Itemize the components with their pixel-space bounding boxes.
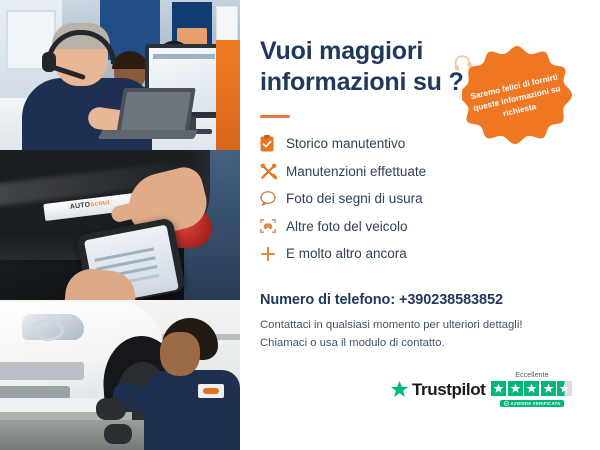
trustpilot-rating: Eccellente AZIENDA VERIFICATA <box>491 372 572 407</box>
promo-banner: AUTOscout Vuoi maggiori informazioni su … <box>0 0 600 450</box>
contact-line-2: Chiamaci o usa il modulo di contatto. <box>260 337 445 349</box>
check-circle-icon <box>504 401 509 406</box>
trustpilot-star-icon <box>390 380 409 399</box>
verified-badge: AZIENDA VERIFICATA <box>500 400 565 407</box>
photo-column: AUTOscout <box>0 0 240 450</box>
car-inspection-photo: AUTOscout <box>0 150 240 300</box>
list-item-label: Altre foto del veicolo <box>286 219 408 234</box>
list-item[interactable]: Foto dei segni di usura <box>260 185 510 213</box>
speech-bubble-icon <box>260 191 286 206</box>
feature-list: Storico manutentivo Manutenzioni effettu… <box>260 130 510 268</box>
list-item-label: E molto altro ancora <box>286 246 407 261</box>
star-filled <box>491 381 506 396</box>
verified-label: AZIENDA VERIFICATA <box>511 401 561 406</box>
title-divider <box>260 115 290 118</box>
list-item[interactable]: E molto altro ancora <box>260 240 510 268</box>
call-center-photo <box>0 0 240 150</box>
star-filled <box>524 381 539 396</box>
content-panel: Vuoi maggiori informazioni su ? Saremo f… <box>240 0 600 450</box>
trustpilot-widget[interactable]: Trustpilot Eccellente AZIENDA VERIFICA <box>390 372 572 407</box>
list-item[interactable]: Altre foto del veicolo <box>260 213 510 241</box>
list-item-label: Storico manutentivo <box>286 136 405 151</box>
mechanic-wheel-photo <box>0 300 240 450</box>
list-item[interactable]: Manutenzioni effettuate <box>260 158 510 186</box>
plus-icon <box>260 246 286 262</box>
trustpilot-logo: Trustpilot <box>390 380 485 400</box>
star-half <box>557 381 572 396</box>
trustpilot-name: Trustpilot <box>412 380 485 400</box>
list-item-label: Foto dei segni di usura <box>286 191 423 206</box>
tools-cross-icon <box>260 163 286 180</box>
contact-line-1: Contattaci in qualsiasi momento per ulte… <box>260 319 522 331</box>
list-item[interactable]: Storico manutentivo <box>260 130 510 158</box>
star-filled <box>541 381 556 396</box>
star-filled <box>508 381 523 396</box>
headset-icon <box>451 53 474 71</box>
phone-number[interactable]: Numero di telefono: +390238583852 <box>260 292 503 308</box>
list-item-label: Manutenzioni effettuate <box>286 164 426 179</box>
car-scan-frame-icon <box>260 218 286 234</box>
rating-label: Eccellente <box>515 372 548 379</box>
clipboard-check-icon <box>260 135 286 152</box>
star-rating <box>491 381 572 396</box>
badge-text: Saremo felici di fornirti queste informa… <box>468 71 566 126</box>
